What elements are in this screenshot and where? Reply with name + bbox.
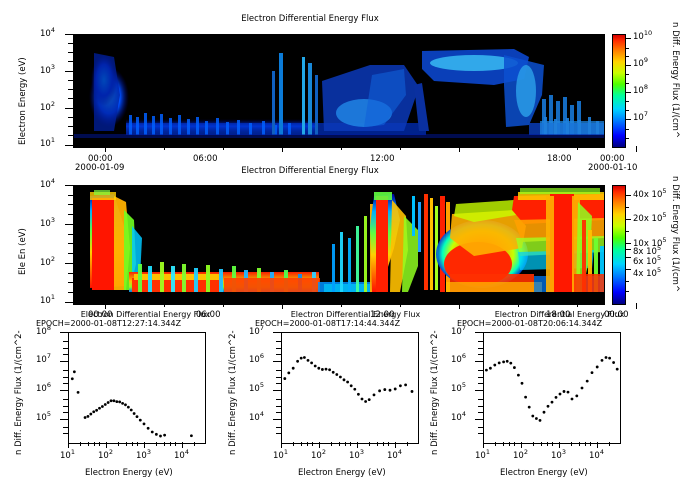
- line-panel-0-epoch: EPOCH=2000-01-08T12:27:14.344Z: [36, 319, 181, 328]
- lp2-ytick-1e4: 104: [451, 414, 466, 423]
- line-panel-2-epoch: EPOCH=2000-01-08T20:06:14.344Z: [457, 319, 602, 328]
- mid-ytick-1e3: 103: [40, 220, 55, 229]
- lp0-xtick-1e2: 102: [98, 452, 113, 461]
- mid-colorbar-label-wrap: n Diff. Energy Flux (1/(cm^: [680, 176, 697, 186]
- xtick-label-3: 18:00: [547, 155, 572, 164]
- lp1-xtick-1e3: 103: [349, 452, 364, 461]
- mid-ytick-1e2: 102: [40, 259, 55, 268]
- line-panel-0-points: [69, 333, 205, 443]
- mid-colorbar[interactable]: [612, 185, 626, 305]
- lp1-xtick-1e2: 102: [311, 452, 326, 461]
- lp1-xtick-1e4: 104: [387, 452, 402, 461]
- top-spectrogram-canvas: [74, 35, 604, 147]
- lp0-ytick-1e8: 108: [36, 328, 51, 337]
- ytick-1e2: 102: [40, 104, 55, 113]
- top-spectrogram-plot[interactable]: [73, 34, 605, 148]
- line-panel-1-xlabel: Electron Energy (eV): [298, 469, 386, 478]
- line-panel-2-ylabel: n Diff. Energy Flux (1/(cm^2-: [430, 330, 440, 455]
- top-colorbar-label-wrap: n Diff. Energy Flux (1/(cm^: [680, 22, 697, 32]
- top-colorbar-gradient: [613, 35, 625, 147]
- lp2-ytick-1e5: 105: [451, 385, 466, 394]
- line-panel-2-plot[interactable]: [483, 332, 621, 444]
- lp1-ytick-1e6: 106: [249, 356, 264, 365]
- lp2-xtick-1e2: 102: [513, 452, 528, 461]
- mid-colorbar-label: n Diff. Energy Flux (1/(cm^: [670, 176, 680, 292]
- line-panel-1-epoch: EPOCH=2000-01-08T17:14:44.344Z: [255, 319, 400, 328]
- line-panel-1-ylabel-wrap: n Diff. Energy Flux (1/(cm^2-: [228, 455, 353, 465]
- lp2-xtick-1e4: 104: [589, 452, 604, 461]
- colorbar-tick-1e9: 109: [633, 60, 648, 69]
- xtick-label-2: 12:00: [370, 155, 395, 164]
- mid-colorbar-tick-4e5: 4x 105: [633, 270, 661, 279]
- mid-spectrogram-plot[interactable]: [73, 185, 605, 305]
- line-panel-1-plot[interactable]: [281, 332, 419, 444]
- line-panel-0-xlabel: Electron Energy (eV): [85, 469, 173, 478]
- top-colorbar[interactable]: [612, 34, 626, 148]
- top-colorbar-label: n Diff. Energy Flux (1/(cm^: [670, 22, 680, 138]
- line-panel-0-title: Electron Differential Energy Flux: [38, 310, 253, 319]
- line-panel-1-points: [282, 333, 418, 443]
- colorbar-tick-1e8: 108: [633, 87, 648, 96]
- lp0-xtick-1e4: 104: [174, 452, 189, 461]
- lp2-xtick-1e1: 101: [475, 452, 490, 461]
- xtick-label-1: 06:00: [193, 155, 218, 164]
- line-panel-2-ylabel-wrap: n Diff. Energy Flux (1/(cm^2-: [430, 455, 555, 465]
- lp2-ytick-1e7: 107: [451, 328, 466, 337]
- line-panel-1-ylabel: n Diff. Energy Flux (1/(cm^2-: [228, 330, 238, 455]
- lp2-xtick-1e3: 103: [551, 452, 566, 461]
- line-panel-0-ylabel-wrap: n Diff. Energy Flux (1/(cm^2-: [14, 455, 139, 465]
- ytick-1e1: 101: [40, 140, 55, 149]
- line-panel-2-xlabel: Electron Energy (eV): [500, 469, 588, 478]
- lp1-ytick-1e5: 105: [249, 385, 264, 394]
- lp0-xtick-1e3: 103: [136, 452, 151, 461]
- mid-colorbar-gradient: [613, 186, 625, 304]
- line-panel-0-plot[interactable]: [68, 332, 206, 444]
- ytick-1e4: 104: [40, 30, 55, 39]
- top-spectrogram-ylabel: Electron Energy (eV): [18, 57, 28, 145]
- lp0-xtick-1e1: 101: [60, 452, 75, 461]
- line-panel-0-ylabel: n Diff. Energy Flux (1/(cm^2-: [14, 330, 24, 455]
- mid-ytick-1e1: 101: [40, 297, 55, 306]
- lp1-ytick-1e4: 104: [249, 414, 264, 423]
- lp0-ytick-1e6: 106: [36, 385, 51, 394]
- colorbar-tick-1e10: 1010: [633, 33, 652, 42]
- line-panel-1-title: Electron Differential Energy Flux: [248, 310, 463, 319]
- mid-spectrogram-ylabel-wrap: Ele En (eV): [18, 275, 65, 285]
- lp2-ytick-1e6: 106: [451, 356, 466, 365]
- lp0-ytick-1e7: 107: [36, 356, 51, 365]
- mid-spectrogram-ylabel: Ele En (eV): [18, 228, 28, 275]
- xaxis-date-left: 2000-01-09: [75, 164, 124, 173]
- lp1-xtick-1e1: 101: [273, 452, 288, 461]
- line-panel-2-points: [484, 333, 620, 443]
- mid-spectrogram-canvas: [74, 186, 604, 304]
- mid-colorbar-tick-20e5: 20x 105: [633, 215, 667, 224]
- mid-spectrogram-title: Electron Differential Energy Flux: [160, 166, 460, 176]
- lp0-ytick-1e5: 105: [36, 414, 51, 423]
- top-spectrogram-title: Electron Differential Energy Flux: [160, 14, 460, 24]
- lp1-ytick-1e7: 107: [249, 328, 264, 337]
- mid-colorbar-tick-40e5: 40x 105: [633, 191, 667, 200]
- colorbar-tick-1e7: 107: [633, 114, 648, 123]
- ytick-1e3: 103: [40, 67, 55, 76]
- xaxis-date-right: 2000-01-10: [588, 164, 637, 173]
- mid-ytick-1e4: 104: [40, 181, 55, 190]
- line-panel-2-title: Electron Differential Energy Flux: [452, 310, 667, 319]
